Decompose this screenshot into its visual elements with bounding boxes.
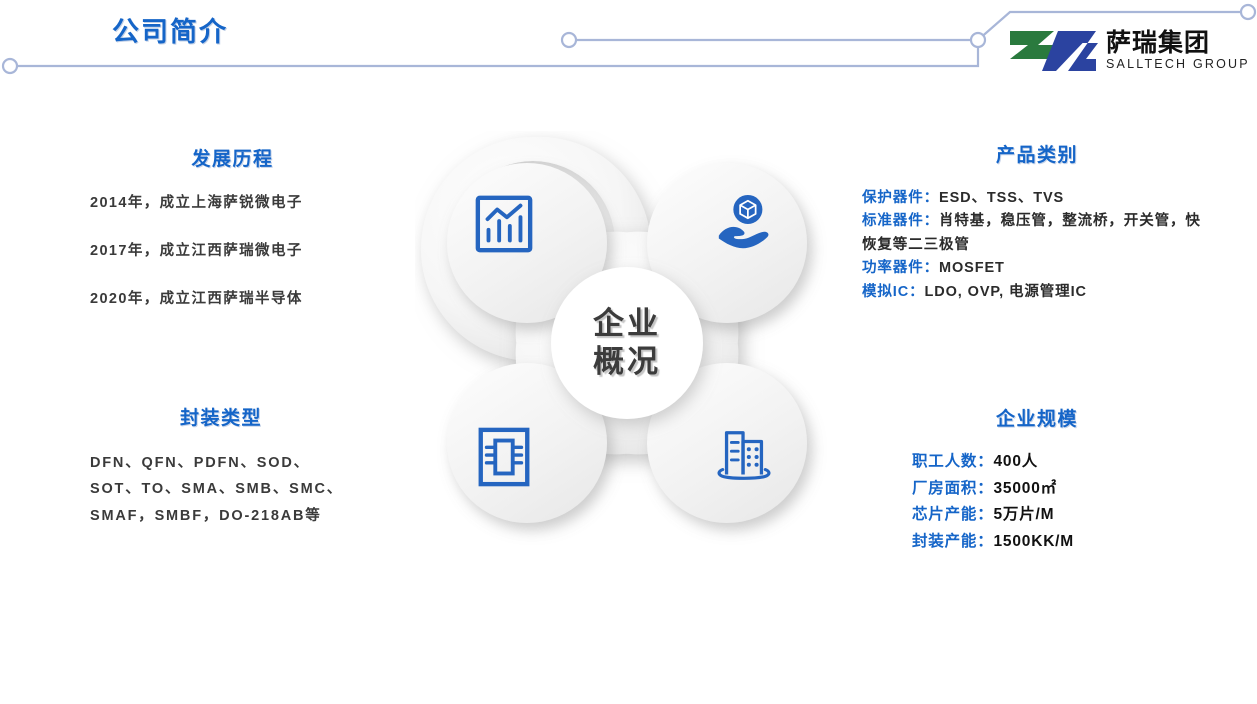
deco-node-right (1241, 5, 1255, 19)
product-label: 模拟IC： (862, 284, 925, 300)
section-package-title: 封装类型 (90, 403, 352, 430)
product-label: 标准器件： (862, 213, 939, 229)
product-row: 功率器件：MOSFET (862, 257, 1212, 280)
scale-label: 芯片产能： (912, 506, 994, 523)
section-package-types: 封装类型 DFN、QFN、PDFN、SOD、SOT、TO、SMA、SMB、SMC… (90, 403, 352, 529)
section-history: 发展历程 2014年，成立上海萨锐微电子 2017年，成立江西萨瑞微电子 202… (90, 144, 375, 336)
product-value: LDO, OVP, 电源管理IC (925, 284, 1087, 300)
logo-name-en: SALLTECH GROUP (1106, 58, 1250, 72)
scale-row: 芯片产能：5万片/M (912, 502, 1212, 529)
chip-icon (472, 425, 536, 489)
product-value: MOSFET (939, 260, 1005, 276)
scale-label: 厂房面积： (912, 480, 994, 497)
logo-name-cn: 萨瑞集团 (1106, 30, 1250, 57)
history-line: 2014年，成立上海萨锐微电子 (90, 193, 375, 215)
central-diagram: 企业 概况 (415, 131, 839, 555)
scale-value: 35000㎡ (994, 480, 1057, 497)
section-scale-title: 企业规模 (862, 404, 1212, 431)
product-row: 标准器件：肖特基，稳压管，整流桥，开关管，快恢复等二三极管 (862, 210, 1212, 257)
scale-row: 封装产能：1500KK/M (912, 529, 1212, 556)
section-history-title: 发展历程 (90, 144, 375, 171)
scale-value: 5万片/M (994, 506, 1055, 523)
deco-node-mid (562, 33, 576, 47)
scale-value: 400人 (994, 453, 1039, 470)
logo-mark-icon (1008, 25, 1100, 77)
company-logo: 萨瑞集团 SALLTECH GROUP (1008, 22, 1250, 80)
scale-row: 职工人数：400人 (912, 449, 1212, 476)
page-title: 公司简介 (112, 10, 228, 49)
chart-icon (472, 192, 536, 256)
section-product-title: 产品类别 (862, 140, 1212, 167)
product-row: 模拟IC：LDO, OVP, 电源管理IC (862, 281, 1212, 304)
product-label: 功率器件： (862, 260, 939, 276)
product-value: ESD、TSS、TVS (939, 190, 1064, 206)
scale-list: 职工人数：400人 厂房面积：35000㎡ 芯片产能：5万片/M 封装产能：15… (862, 449, 1212, 556)
section-product-categories: 产品类别 保护器件：ESD、TSS、TVS 标准器件：肖特基，稳压管，整流桥，开… (862, 140, 1212, 304)
product-row: 保护器件：ESD、TSS、TVS (862, 187, 1212, 210)
product-label: 保护器件： (862, 190, 939, 206)
deco-node-left (3, 59, 17, 73)
scale-value: 1500KK/M (994, 533, 1075, 550)
scale-row: 厂房面积：35000㎡ (912, 476, 1212, 503)
delivery-hand-icon (712, 192, 776, 256)
history-line: 2017年，成立江西萨瑞微电子 (90, 241, 375, 263)
buildings-icon (712, 425, 776, 489)
deco-node-joint (971, 33, 985, 47)
history-line: 2020年，成立江西萨瑞半导体 (90, 289, 375, 311)
scale-label: 职工人数： (912, 453, 994, 470)
scale-label: 封装产能： (912, 533, 994, 550)
section-company-scale: 企业规模 职工人数：400人 厂房面积：35000㎡ 芯片产能：5万片/M 封装… (862, 404, 1212, 556)
package-types-text: DFN、QFN、PDFN、SOD、SOT、TO、SMA、SMB、SMC、SMAF… (90, 450, 352, 529)
